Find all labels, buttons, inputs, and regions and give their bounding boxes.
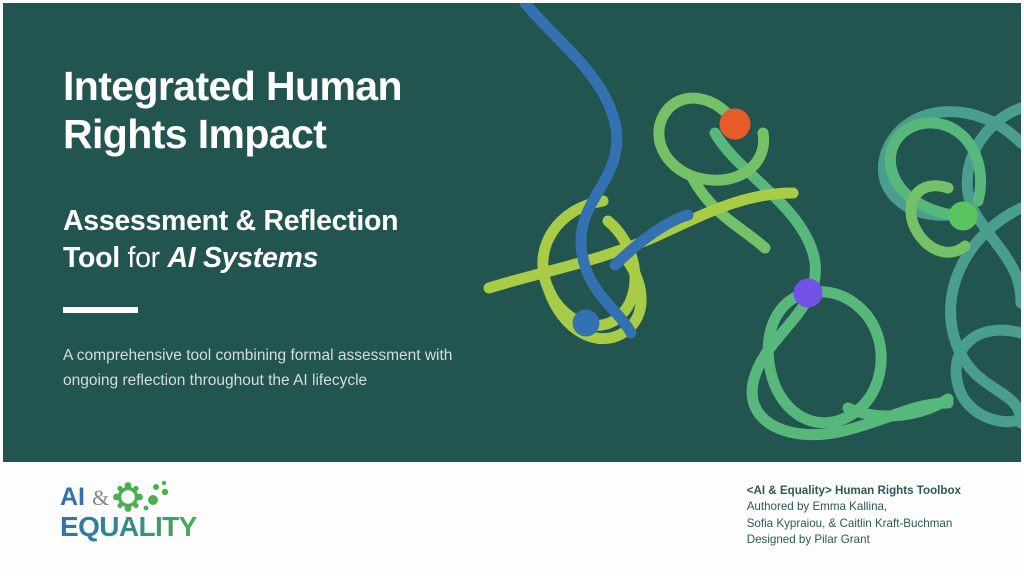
- green-loop-purple-dot: [768, 292, 881, 423]
- yellow-green-main-curve: [489, 193, 793, 288]
- title-text-column: Integrated Human Rights Impact Assessmen…: [63, 63, 483, 409]
- logo-text-equality: EQUALITY: [60, 511, 198, 542]
- subtitle-line-2: Tool for AI Systems: [63, 240, 483, 276]
- subtitle-ai-systems: AI Systems: [167, 242, 318, 274]
- blue-small-tail: [615, 215, 688, 265]
- green-s-curve-main: [715, 133, 948, 435]
- green-loop-around-green-dot: [890, 123, 980, 216]
- page-title: Integrated Human Rights Impact: [63, 63, 483, 158]
- green-dot: [949, 202, 978, 231]
- logo-text-ampersand: &: [92, 485, 109, 510]
- purple-dot: [794, 279, 823, 308]
- teal-curve-lower: [951, 208, 1021, 423]
- logo-text-ai: AI: [60, 483, 85, 511]
- teal-curve-right: [967, 108, 1021, 303]
- blue-main-curve: [525, 3, 631, 333]
- footer-bar: AI &: [3, 462, 1021, 573]
- light-green-loop-orange: [659, 98, 764, 180]
- green-loop-purple-dot-tail: [848, 399, 948, 416]
- molecule-icon: [113, 481, 168, 512]
- orange-dot: [720, 109, 751, 140]
- blue-dot: [573, 310, 600, 337]
- credits-block: <AI & Equality> Human Rights Toolbox Aut…: [747, 483, 961, 549]
- teal-loop-bottom: [956, 330, 1021, 422]
- ai-and-equality-logo[interactable]: AI &: [60, 480, 205, 542]
- light-green-descend: [693, 179, 765, 248]
- hero-panel: Integrated Human Rights Impact Assessmen…: [3, 3, 1021, 462]
- credits-authors-line-2: Sofia Kypraiou, & Caitlin Kraft-Buchman: [747, 516, 961, 532]
- subtitle-line-1: Assessment & Reflection: [63, 203, 483, 239]
- credits-authors-line-1: Authored by Emma Kallina,: [747, 499, 961, 515]
- yellow-green-lower-loop: [548, 255, 641, 339]
- accent-rule-divider: [63, 307, 138, 313]
- slide-root: Integrated Human Rights Impact Assessmen…: [0, 0, 1024, 576]
- description-text: A comprehensive tool combining formal as…: [63, 343, 463, 394]
- subtitle-tool-word: Tool: [63, 242, 120, 274]
- credits-toolbox-title: <AI & Equality> Human Rights Toolbox: [747, 483, 961, 499]
- credits-designer: Designed by Pilar Grant: [747, 532, 961, 548]
- subtitle-block: Assessment & Reflection Tool for AI Syst…: [63, 203, 483, 276]
- yellow-green-loop-left: [543, 201, 635, 325]
- subtitle-for-word: for: [120, 242, 168, 274]
- teal-curve-upper-left: [883, 112, 1021, 216]
- light-green-small-loop-left-of-dot: [911, 186, 965, 252]
